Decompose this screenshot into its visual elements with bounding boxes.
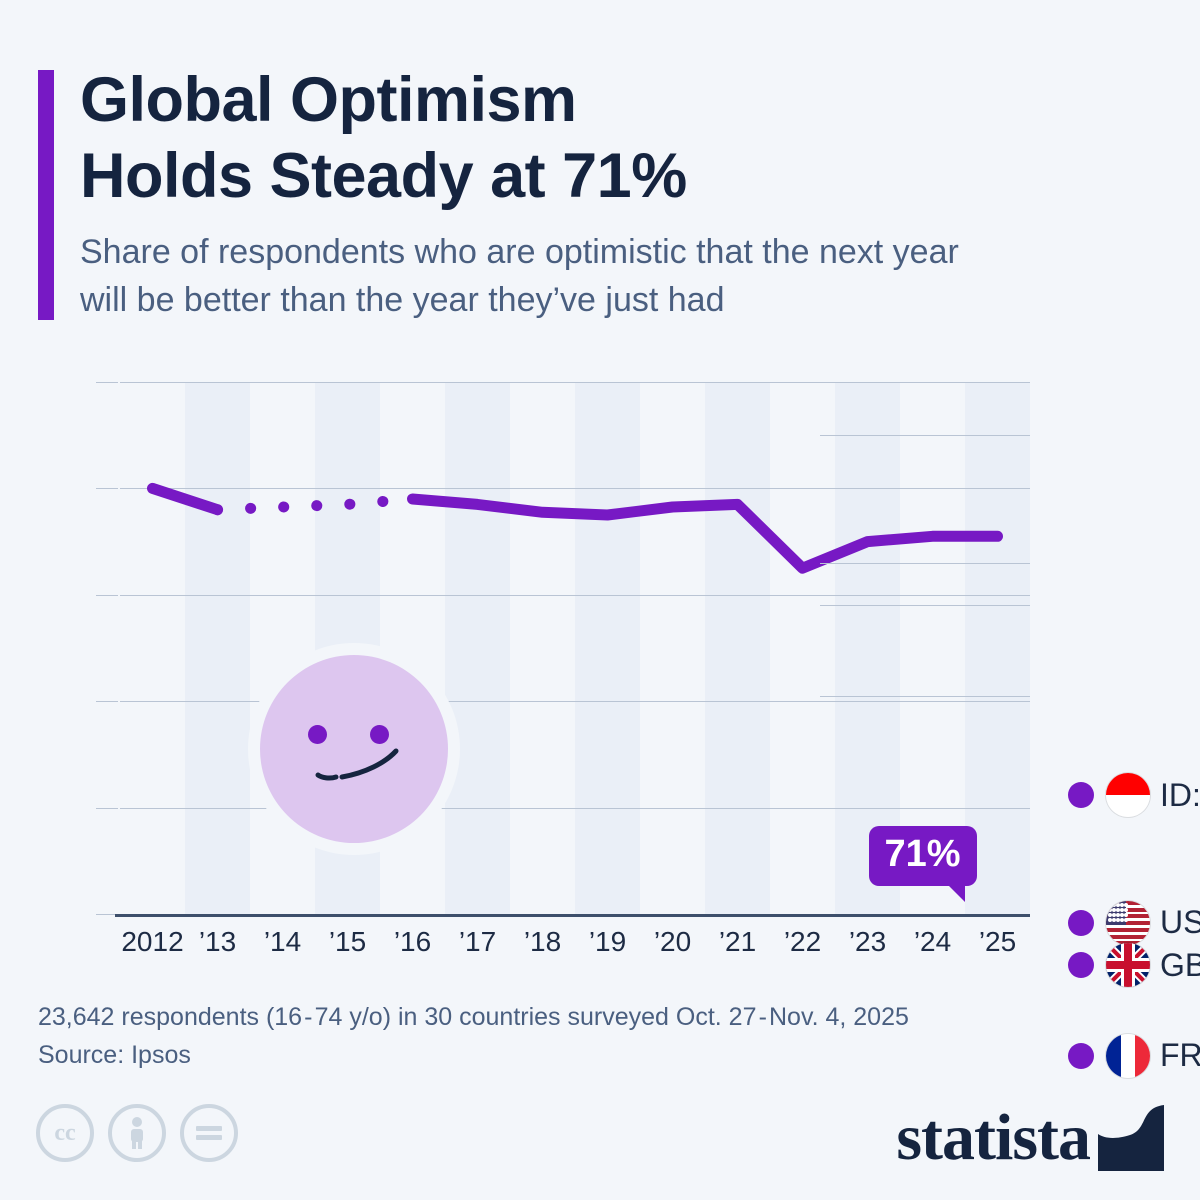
y-tick-mark xyxy=(96,382,118,383)
statista-mark-icon xyxy=(1098,1105,1164,1171)
flag-france-icon xyxy=(1106,1034,1150,1078)
footnotes: 23,642 respondents (16 - 74 y/o) in 30 c… xyxy=(38,998,1038,1074)
flag-uk-icon xyxy=(1106,943,1150,987)
x-axis-label: ’17 xyxy=(459,926,496,958)
x-axis-label: ’22 xyxy=(784,926,821,958)
cc-by-person-icon xyxy=(108,1104,166,1162)
x-axis-label: ’15 xyxy=(329,926,366,958)
page-subtitle: Share of respondents who are optimistic … xyxy=(80,228,1175,324)
legend-connector-line xyxy=(820,605,1030,606)
x-axis-label: ’23 xyxy=(849,926,886,958)
y-tick-mark xyxy=(96,701,118,702)
legend-item-us[interactable]: US: 66% xyxy=(1068,900,1200,946)
cc-nd-equals-icon xyxy=(180,1104,238,1162)
series-line-solid xyxy=(413,499,998,568)
x-axis-label: ’13 xyxy=(199,926,236,958)
survey-note: 23,642 respondents (16 - 74 y/o) in 30 c… xyxy=(38,998,1038,1036)
flag-usa-icon xyxy=(1106,901,1150,945)
subtitle-line-2: will be better than the year they’ve jus… xyxy=(80,276,1175,324)
statista-wordmark: statista xyxy=(896,1100,1090,1176)
legend-item-gb[interactable]: GB: 58% xyxy=(1068,942,1200,988)
source-note: Source: Ipsos xyxy=(38,1036,1038,1074)
legend-label-id: ID: 90% xyxy=(1160,777,1200,814)
x-axis-label: ’25 xyxy=(979,926,1016,958)
series-line-solid xyxy=(153,488,218,509)
header: Global Optimism Holds Steady at 71% Shar… xyxy=(0,0,1200,340)
legend-connector-line xyxy=(820,563,1030,564)
x-axis-label: ’14 xyxy=(264,926,301,958)
legend-label-fr: FR: 41% xyxy=(1160,1037,1200,1074)
y-tick-mark xyxy=(96,488,118,489)
x-axis-labels: 2012’13’14’15’16’17’18’19’20’21’22’23’24… xyxy=(120,926,1030,970)
legend-marker-dot xyxy=(1068,952,1094,978)
y-tick-mark xyxy=(96,808,118,809)
x-axis-label: ’20 xyxy=(654,926,691,958)
value-callout: 71% xyxy=(869,826,977,886)
legend-marker-dot xyxy=(1068,1043,1094,1069)
statista-logo: statista xyxy=(896,1100,1164,1176)
line-chart: 0%20%40%60%80%100% 2012’13’14’15’16’17’1… xyxy=(0,360,1200,980)
legend-connector-line xyxy=(820,696,1030,697)
footer-bar: cc statista xyxy=(0,1092,1200,1200)
x-axis-label: ’16 xyxy=(394,926,431,958)
legend-marker-dot xyxy=(1068,910,1094,936)
subtitle-line-1: Share of respondents who are optimistic … xyxy=(80,228,1175,276)
x-axis-label: ’21 xyxy=(719,926,756,958)
legend-label-us: US: 66% xyxy=(1160,904,1200,941)
page-title: Global Optimism Holds Steady at 71% xyxy=(80,62,1170,214)
x-axis-baseline xyxy=(115,914,1030,917)
legend-item-id[interactable]: ID: 90% xyxy=(1068,772,1200,818)
x-axis-label: ’18 xyxy=(524,926,561,958)
x-axis-label: ’19 xyxy=(589,926,626,958)
series-line-dashed xyxy=(218,499,413,510)
x-axis-label: ’24 xyxy=(914,926,951,958)
legend-item-fr[interactable]: FR: 41% xyxy=(1068,1033,1200,1079)
y-tick-mark xyxy=(96,595,118,596)
title-line-1: Global Optimism xyxy=(80,62,1170,138)
title-line-2: Holds Steady at 71% xyxy=(80,138,1170,214)
cc-icon: cc xyxy=(36,1104,94,1162)
legend-connector-line xyxy=(820,435,1030,436)
title-accent-bar xyxy=(38,70,54,320)
legend-marker-dot xyxy=(1068,782,1094,808)
creative-commons-icons: cc xyxy=(36,1104,238,1162)
flag-indonesia-icon xyxy=(1106,773,1150,817)
x-axis-label: 2012 xyxy=(121,926,183,958)
legend-label-gb: GB: 58% xyxy=(1160,947,1200,984)
